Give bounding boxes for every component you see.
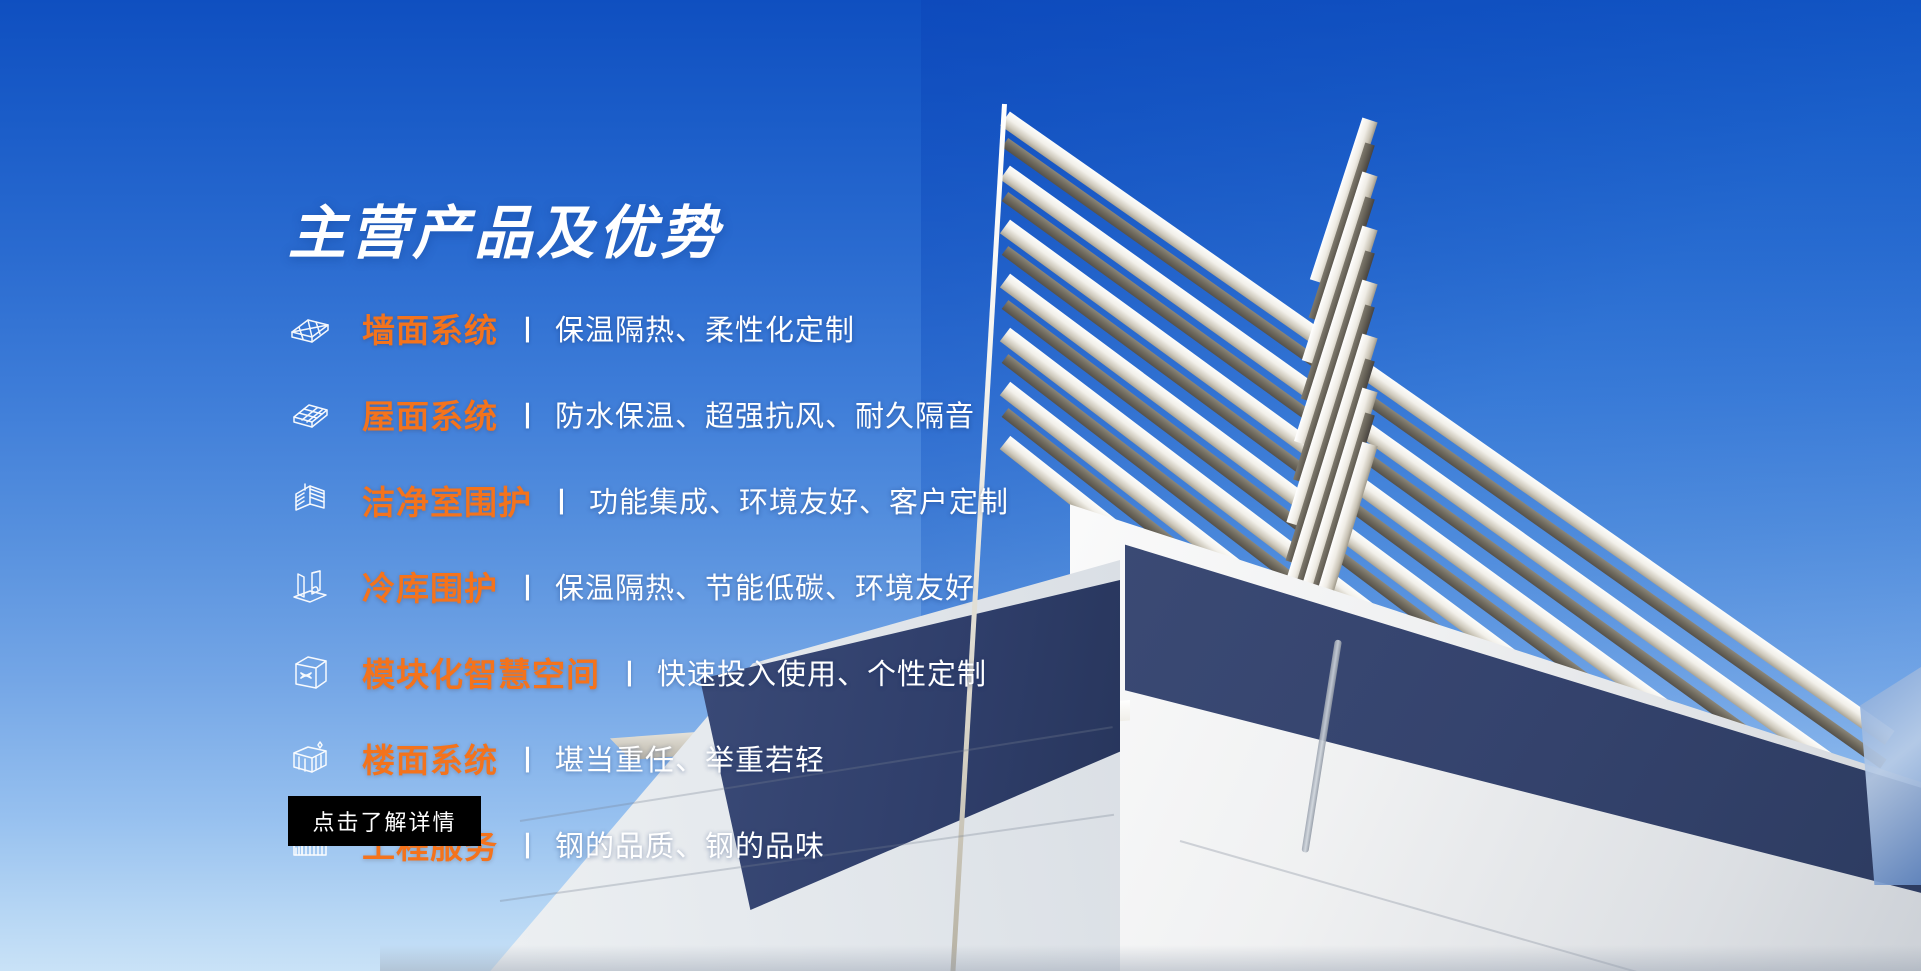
product-row[interactable]: 冷库围护丨保温隔热、节能低碳、环境友好 xyxy=(288,558,1188,614)
product-description: 快速投入使用、个性定制 xyxy=(657,651,987,693)
separator-bar: 丨 xyxy=(548,481,575,520)
product-description: 防水保温、超强抗风、耐久隔音 xyxy=(555,393,975,435)
learn-more-button[interactable]: 点击了解详情 xyxy=(288,796,481,846)
wall-panel-wireframe-icon xyxy=(288,306,332,350)
separator-bar: 丨 xyxy=(514,395,541,434)
separator-bar: 丨 xyxy=(514,567,541,606)
hero-banner: 主营产品及优势 墙面系统丨保温隔热、柔性化定制屋面系统丨防水保温、超强抗风、耐久… xyxy=(0,0,1921,971)
separator-bar: 丨 xyxy=(514,825,541,864)
product-description: 功能集成、环境友好、客户定制 xyxy=(589,479,1009,521)
product-name: 模块化智慧空间 xyxy=(362,648,600,696)
cold-storage-wireframe-icon xyxy=(288,564,332,608)
product-description: 堪当重任、举重若轻 xyxy=(555,737,825,779)
separator-bar: 丨 xyxy=(514,309,541,348)
product-description: 钢的品质、钢的品味 xyxy=(555,823,825,865)
product-name: 洁净室围护 xyxy=(362,476,532,524)
banner-content: 主营产品及优势 墙面系统丨保温隔热、柔性化定制屋面系统丨防水保温、超强抗风、耐久… xyxy=(0,0,1921,971)
product-row[interactable]: 模块化智慧空间丨快速投入使用、个性定制 xyxy=(288,644,1188,700)
product-row[interactable]: 洁净室围护丨功能集成、环境友好、客户定制 xyxy=(288,472,1188,528)
floor-system-box-wireframe-icon xyxy=(288,736,332,780)
product-row[interactable]: 墙面系统丨保温隔热、柔性化定制 xyxy=(288,300,1188,356)
product-name: 屋面系统 xyxy=(362,390,498,438)
product-name: 楼面系统 xyxy=(362,734,498,782)
product-name: 冷库围护 xyxy=(362,562,498,610)
product-row[interactable]: 屋面系统丨防水保温、超强抗风、耐久隔音 xyxy=(288,386,1188,442)
product-description: 保温隔热、节能低碳、环境友好 xyxy=(555,565,975,607)
product-row[interactable]: 楼面系统丨堪当重任、举重若轻 xyxy=(288,730,1188,786)
separator-bar: 丨 xyxy=(616,653,643,692)
modular-cube-wireframe-icon xyxy=(288,650,332,694)
page-title: 主营产品及优势 xyxy=(288,205,722,263)
separator-bar: 丨 xyxy=(514,739,541,778)
roof-slab-wireframe-icon xyxy=(288,392,332,436)
product-description: 保温隔热、柔性化定制 xyxy=(555,307,855,349)
product-name: 墙面系统 xyxy=(362,304,498,352)
cleanroom-building-wireframe-icon xyxy=(288,478,332,522)
